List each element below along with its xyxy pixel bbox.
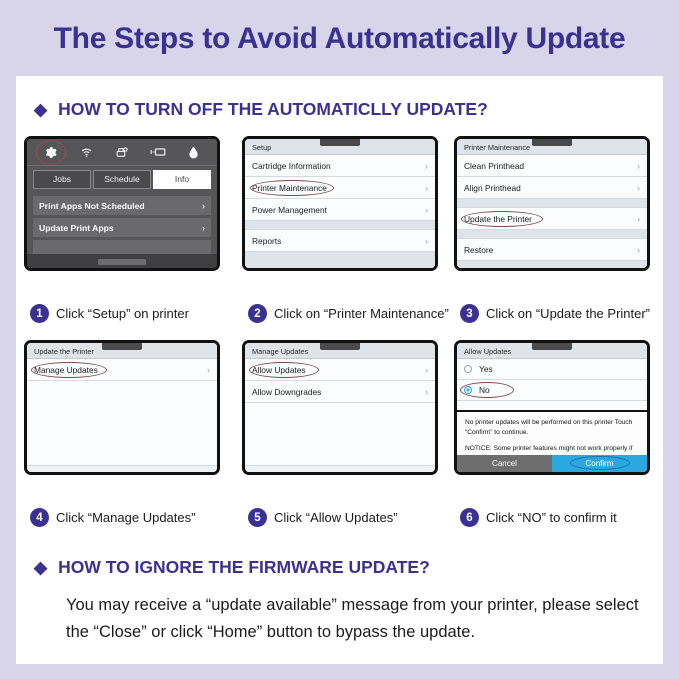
chevron-right-icon: › bbox=[637, 214, 640, 224]
tab-schedule[interactable]: Schedule bbox=[93, 170, 151, 189]
wireless-icon[interactable] bbox=[73, 142, 99, 163]
panel-header-text: Setup bbox=[252, 143, 271, 152]
printer-screen-4: Update the Printer Manage Updates › bbox=[24, 340, 220, 475]
row-allow-updates[interactable]: Allow Updates › bbox=[245, 359, 435, 381]
chevron-right-icon: › bbox=[202, 201, 205, 211]
step-caption-text: Click on “Update the Printer” bbox=[486, 306, 650, 321]
ink-drop-icon[interactable] bbox=[180, 142, 206, 163]
cancel-button[interactable]: Cancel bbox=[457, 455, 552, 472]
row-reports[interactable]: Reports › bbox=[245, 230, 435, 252]
chevron-right-icon: › bbox=[425, 205, 428, 215]
printer-screen-5: Manage Updates Allow Updates › Allow Dow… bbox=[242, 340, 438, 475]
dialog-button-row: Cancel Confirm bbox=[457, 455, 647, 472]
panel-empty-area bbox=[27, 381, 217, 466]
printer-screen-3: Printer Maintenance Clean Printhead › Al… bbox=[454, 136, 650, 271]
panel-handle bbox=[532, 138, 572, 146]
panel-header-text: Update the Printer bbox=[34, 347, 94, 356]
row-label: Power Management bbox=[252, 205, 327, 215]
section-2-heading: ◆ HOW TO IGNORE THE FIRMWARE UPDATE? bbox=[34, 557, 430, 578]
poster-page: The Steps to Avoid Automatically Update … bbox=[0, 0, 679, 679]
panel-header-text: Printer Maintenance bbox=[464, 143, 530, 152]
step-caption-1: 1 Click “Setup” on printer bbox=[30, 304, 189, 323]
section-1-heading-text: HOW TO TURN OFF THE AUTOMATICLLY UPDATE? bbox=[58, 99, 488, 120]
step-number-badge: 5 bbox=[248, 508, 267, 527]
step-caption-text: Click on “Printer Maintenance” bbox=[274, 306, 449, 321]
panel-footer bbox=[457, 261, 647, 271]
row-update-the-printer[interactable]: Update the Printer › bbox=[457, 208, 647, 230]
printer-icon-row bbox=[27, 139, 217, 166]
step-caption-4: 4 Click “Manage Updates” bbox=[30, 508, 195, 527]
panel-footer bbox=[245, 252, 435, 271]
chevron-right-icon: › bbox=[637, 183, 640, 193]
setup-menu: Setup Cartridge Information › Printer Ma… bbox=[245, 139, 435, 268]
section-2-body: You may receive a “update available” mes… bbox=[66, 592, 651, 645]
row-update-print-apps[interactable]: Update Print Apps › bbox=[33, 218, 211, 237]
confirm-button[interactable]: Confirm bbox=[552, 455, 647, 472]
chevron-right-icon: › bbox=[425, 365, 428, 375]
chevron-right-icon: › bbox=[425, 236, 428, 246]
radio-option-yes[interactable]: Yes bbox=[457, 359, 647, 380]
printer-dark-ui: Jobs Schedule Info Print Apps Not Schedu… bbox=[27, 139, 217, 268]
step-caption-text: Click “NO” to confirm it bbox=[486, 510, 617, 525]
row-label: Allow Updates bbox=[252, 365, 306, 375]
step-number-badge: 6 bbox=[460, 508, 479, 527]
step-number-badge: 2 bbox=[248, 304, 267, 323]
diamond-icon: ◆ bbox=[34, 101, 47, 118]
step-caption-3: 3 Click on “Update the Printer” bbox=[460, 304, 650, 323]
printer-screen-1: Jobs Schedule Info Print Apps Not Schedu… bbox=[24, 136, 220, 271]
panel-header: Printer Maintenance bbox=[457, 139, 647, 155]
row-separator bbox=[457, 230, 647, 239]
panel-handle bbox=[320, 342, 360, 350]
manage-updates-menu: Manage Updates Allow Updates › Allow Dow… bbox=[245, 343, 435, 472]
row-separator bbox=[245, 221, 435, 230]
tab-info[interactable]: Info bbox=[153, 170, 211, 189]
chevron-right-icon: › bbox=[425, 387, 428, 397]
panel-header-text: Manage Updates bbox=[252, 347, 308, 356]
diamond-icon: ◆ bbox=[34, 559, 47, 576]
printer-screen-2: Setup Cartridge Information › Printer Ma… bbox=[242, 136, 438, 271]
content-card: ◆ HOW TO TURN OFF THE AUTOMATICLLY UPDAT… bbox=[16, 76, 663, 664]
step-number-badge: 1 bbox=[30, 304, 49, 323]
gear-highlight-ellipse bbox=[36, 140, 66, 165]
radio-icon-selected bbox=[464, 386, 472, 394]
step-caption-5: 5 Click “Allow Updates” bbox=[248, 508, 398, 527]
section-1-heading: ◆ HOW TO TURN OFF THE AUTOMATICLLY UPDAT… bbox=[34, 99, 488, 120]
page-title: The Steps to Avoid Automatically Update bbox=[0, 22, 679, 56]
panel-empty-area bbox=[245, 403, 435, 466]
confirm-button-label: Confirm bbox=[585, 459, 613, 468]
row-label: Clean Printhead bbox=[464, 161, 524, 171]
step-caption-6: 6 Click “NO” to confirm it bbox=[460, 508, 617, 527]
step-number-badge: 3 bbox=[460, 304, 479, 323]
row-label: Manage Updates bbox=[34, 365, 98, 375]
row-printer-maintenance[interactable]: Printer Maintenance › bbox=[245, 177, 435, 199]
notice-line-1: No printer updates will be performed on … bbox=[457, 412, 647, 438]
radio-icon bbox=[464, 365, 472, 373]
row-label: Cartridge Information bbox=[252, 161, 331, 171]
section-2-heading-text: HOW TO IGNORE THE FIRMWARE UPDATE? bbox=[58, 557, 430, 578]
row-label: Printer Maintenance bbox=[252, 183, 327, 193]
row-align-printhead[interactable]: Align Printhead › bbox=[457, 177, 647, 199]
step-caption-text: Click “Manage Updates” bbox=[56, 510, 195, 525]
row-label: Update the Printer bbox=[464, 214, 532, 224]
allow-updates-screen: Allow Updates Yes No No printer updates … bbox=[457, 343, 647, 472]
chevron-right-icon: › bbox=[637, 245, 640, 255]
printer-bottom-bar bbox=[27, 254, 217, 268]
row-label: Reports bbox=[252, 236, 281, 246]
printer-maintenance-menu: Printer Maintenance Clean Printhead › Al… bbox=[457, 139, 647, 268]
tab-jobs[interactable]: Jobs bbox=[33, 170, 91, 189]
chevron-right-icon: › bbox=[202, 223, 205, 233]
printer-screen-6: Allow Updates Yes No No printer updates … bbox=[454, 340, 650, 475]
panel-spacer bbox=[457, 401, 647, 410]
paper-tray-icon[interactable] bbox=[145, 142, 171, 163]
row-print-apps-not-scheduled[interactable]: Print Apps Not Scheduled › bbox=[33, 196, 211, 215]
row-clean-printhead[interactable]: Clean Printhead › bbox=[457, 155, 647, 177]
printer-row-list: Print Apps Not Scheduled › Update Print … bbox=[27, 192, 217, 259]
step-caption-text: Click “Setup” on printer bbox=[56, 306, 189, 321]
panel-handle bbox=[102, 342, 142, 350]
printer-tab-bar: Jobs Schedule Info bbox=[27, 166, 217, 192]
panel-handle bbox=[532, 342, 572, 350]
chevron-right-icon: › bbox=[207, 365, 210, 375]
row-label: Print Apps Not Scheduled bbox=[39, 201, 145, 211]
row-power-management[interactable]: Power Management › bbox=[245, 199, 435, 221]
panel-header: Manage Updates bbox=[245, 343, 435, 359]
panel-header: Allow Updates bbox=[457, 343, 647, 359]
chevron-right-icon: › bbox=[637, 161, 640, 171]
update-printer-menu: Update the Printer Manage Updates › bbox=[27, 343, 217, 472]
row-label: Allow Downgrades bbox=[252, 387, 321, 397]
row-restore[interactable]: Restore › bbox=[457, 239, 647, 261]
row-label: Update Print Apps bbox=[39, 223, 114, 233]
row-separator bbox=[457, 199, 647, 208]
panel-handle bbox=[320, 138, 360, 146]
row-allow-downgrades[interactable]: Allow Downgrades › bbox=[245, 381, 435, 403]
confirm-dialog: No printer updates will be performed on … bbox=[457, 410, 647, 472]
radio-option-no[interactable]: No bbox=[457, 380, 647, 401]
row-cartridge-information[interactable]: Cartridge Information › bbox=[245, 155, 435, 177]
radio-label: Yes bbox=[479, 364, 493, 374]
radio-label: No bbox=[479, 385, 490, 395]
row-label: Align Printhead bbox=[464, 183, 521, 193]
eprint-icon[interactable] bbox=[109, 142, 135, 163]
panel-header: Setup bbox=[245, 139, 435, 155]
row-manage-updates[interactable]: Manage Updates › bbox=[27, 359, 217, 381]
chevron-right-icon: › bbox=[425, 183, 428, 193]
panel-header-text: Allow Updates bbox=[464, 347, 511, 356]
step-caption-text: Click “Allow Updates” bbox=[274, 510, 398, 525]
row-label: Restore bbox=[464, 245, 493, 255]
gear-icon[interactable] bbox=[38, 142, 64, 163]
step-number-badge: 4 bbox=[30, 508, 49, 527]
panel-header: Update the Printer bbox=[27, 343, 217, 359]
step-caption-2: 2 Click on “Printer Maintenance” bbox=[248, 304, 449, 323]
chevron-right-icon: › bbox=[425, 161, 428, 171]
